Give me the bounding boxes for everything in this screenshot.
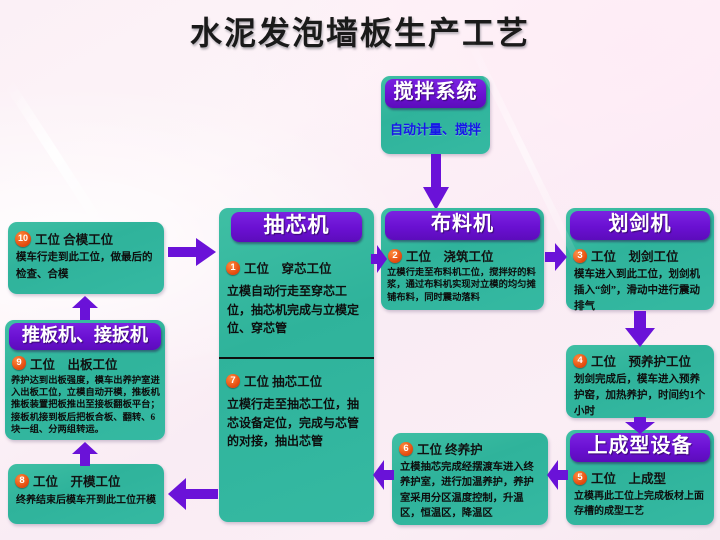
step-1-body: 立模自动行走至穿芯工位，抽芯机完成与立模定位、穿芯管 — [219, 278, 374, 343]
step-10-title-row: 10 工位 合模工位 — [8, 222, 164, 249]
arrow-distributor-to-sword — [545, 243, 567, 271]
node-final-curing[interactable]: 6 工位 终养护 立模抽芯完成经摆渡车进入终养护室，进行加温养护，养护室采用分区… — [392, 433, 548, 525]
node-core-machine[interactable]: 抽芯机 1 工位 穿芯工位 立模自动行走至穿芯工位，抽芯机完成与立模定位、穿芯管… — [219, 208, 374, 522]
step-4-number: 4 — [573, 354, 587, 368]
arrow-core-to-distributor — [371, 245, 387, 273]
arrow-sword-to-pre-curing — [625, 311, 655, 347]
step-9-title-row: 9 工位 出板工位 — [5, 352, 165, 374]
arrow-demold-to-board-machine — [72, 442, 98, 466]
step-9-number: 9 — [12, 356, 26, 370]
arrow-mixer-to-distributor — [423, 154, 449, 210]
arrow-final-curing-to-core — [373, 460, 394, 490]
node-core-machine-header: 抽芯机 — [231, 212, 362, 242]
step-1-title: 工位 穿芯工位 — [244, 258, 332, 277]
step-7-title: 工位 抽芯工位 — [244, 371, 322, 390]
step-1: 1 工位 穿芯工位 立模自动行走至穿芯工位，抽芯机完成与立模定位、穿芯管 — [219, 246, 374, 343]
step-8-title-row: 8 工位 开模工位 — [8, 464, 164, 491]
step-3-number: 3 — [573, 249, 587, 263]
arrow-board-machine-to-mold-close — [72, 296, 98, 320]
node-distributor[interactable]: 布料机 2 工位 浇筑工位 立模行走至布料机工位，搅拌好的料浆，通过布料机实现对… — [381, 208, 544, 310]
step-7-title-row: 7 工位 抽芯工位 — [219, 367, 374, 391]
step-2-number: 2 — [388, 249, 402, 263]
step-8-number: 8 — [15, 474, 29, 488]
arrow-core-to-demold — [168, 478, 218, 510]
node-mold-close[interactable]: 10 工位 合模工位 模车行走到此工位，做最后的检查、合模 — [8, 222, 164, 294]
step-1-title-row: 1 工位 穿芯工位 — [219, 254, 374, 278]
step-6-body: 立模抽芯完成经摆渡车进入终养护室，进行加温养护，养护室采用分区温度控制，升温区，… — [392, 459, 548, 527]
step-10-body: 模车行走到此工位，做最后的检查、合模 — [8, 249, 164, 289]
node-forming-equipment[interactable]: 上成型设备 5 工位 上成型 立模再此工位上完成板材上面存槽的成型工艺 — [566, 430, 714, 525]
step-5-number: 5 — [573, 471, 587, 485]
node-distributor-header: 布料机 — [385, 211, 540, 240]
step-10-number: 10 — [15, 231, 31, 247]
step-6-title: 工位 终养护 — [417, 439, 483, 458]
step-7-body: 立模行走至抽芯工位，抽芯设备定位，完成与芯管的对接，抽出芯管 — [219, 391, 374, 456]
node-sword-machine[interactable]: 划剑机 3 工位 划剑工位 模车进入到此工位，划剑机插入“剑”，滑动中进行震动排… — [566, 208, 714, 310]
step-3-title: 工位 划剑工位 — [591, 246, 679, 265]
step-2-title-row: 2 工位 浇筑工位 — [381, 242, 544, 266]
slide-canvas: 水泥发泡墙板生产工艺 搅拌系统 自动计量、搅拌 抽芯机 1 工位 穿芯工位 立模… — [0, 0, 720, 540]
step-7-number: 7 — [226, 374, 240, 388]
step-9-body: 养护达到出板强度，模车出养护室进入出板工位，立模自动开模，推板机推板装置把板推出… — [5, 374, 165, 441]
page-title: 水泥发泡墙板生产工艺 — [0, 8, 720, 54]
step-6-number: 6 — [399, 442, 413, 456]
node-pre-curing[interactable]: 4 工位 预养护工位 划剑完成后，模车进入预养护窑，加热养护，时间约1个小时 — [566, 345, 714, 418]
step-5-body: 立模再此工位上完成板材上面存槽的成型工艺 — [566, 488, 714, 524]
node-forming-equipment-header: 上成型设备 — [570, 433, 710, 462]
step-2-body: 立模行走至布料机工位，搅拌好的料浆，通过布料机实现对立模的均匀摊铺布料，同时震动… — [381, 266, 544, 308]
arrow-pre-curing-to-forming — [625, 417, 655, 434]
step-4-title: 工位 预养护工位 — [591, 351, 691, 370]
node-board-machine[interactable]: 推板机、接扳机 9 工位 出板工位 养护达到出板强度，模车出养护室进入出板工位，… — [5, 320, 165, 440]
arrow-forming-to-final-curing — [547, 460, 568, 490]
step-2-title: 工位 浇筑工位 — [406, 246, 494, 265]
step-3-title-row: 3 工位 划剑工位 — [566, 242, 714, 266]
step-5-title: 工位 上成型 — [591, 468, 666, 487]
step-10-title: 工位 合模工位 — [35, 229, 113, 248]
step-7: 7 工位 抽芯工位 立模行走至抽芯工位，抽芯设备定位，完成与芯管的对接，抽出芯管 — [219, 359, 374, 456]
node-mixer-subtitle: 自动计量、搅拌 — [381, 110, 490, 144]
step-8-title: 工位 开模工位 — [33, 471, 121, 490]
node-mixer-header: 搅拌系统 — [385, 79, 486, 108]
step-9-title: 工位 出板工位 — [30, 354, 118, 373]
node-demold[interactable]: 8 工位 开模工位 终养结束后模车开到此工位开模 — [8, 464, 164, 524]
step-5-title-row: 5 工位 上成型 — [566, 464, 714, 488]
node-sword-machine-header: 划剑机 — [570, 211, 710, 240]
step-6-title-row: 6 工位 终养护 — [392, 433, 548, 459]
arrow-mold-close-to-core — [168, 238, 216, 266]
node-mixer[interactable]: 搅拌系统 自动计量、搅拌 — [381, 76, 490, 154]
step-4-title-row: 4 工位 预养护工位 — [566, 345, 714, 371]
step-1-number: 1 — [226, 261, 240, 275]
step-8-body: 终养结束后模车开到此工位开模 — [8, 491, 164, 513]
node-board-machine-header: 推板机、接扳机 — [9, 323, 161, 350]
